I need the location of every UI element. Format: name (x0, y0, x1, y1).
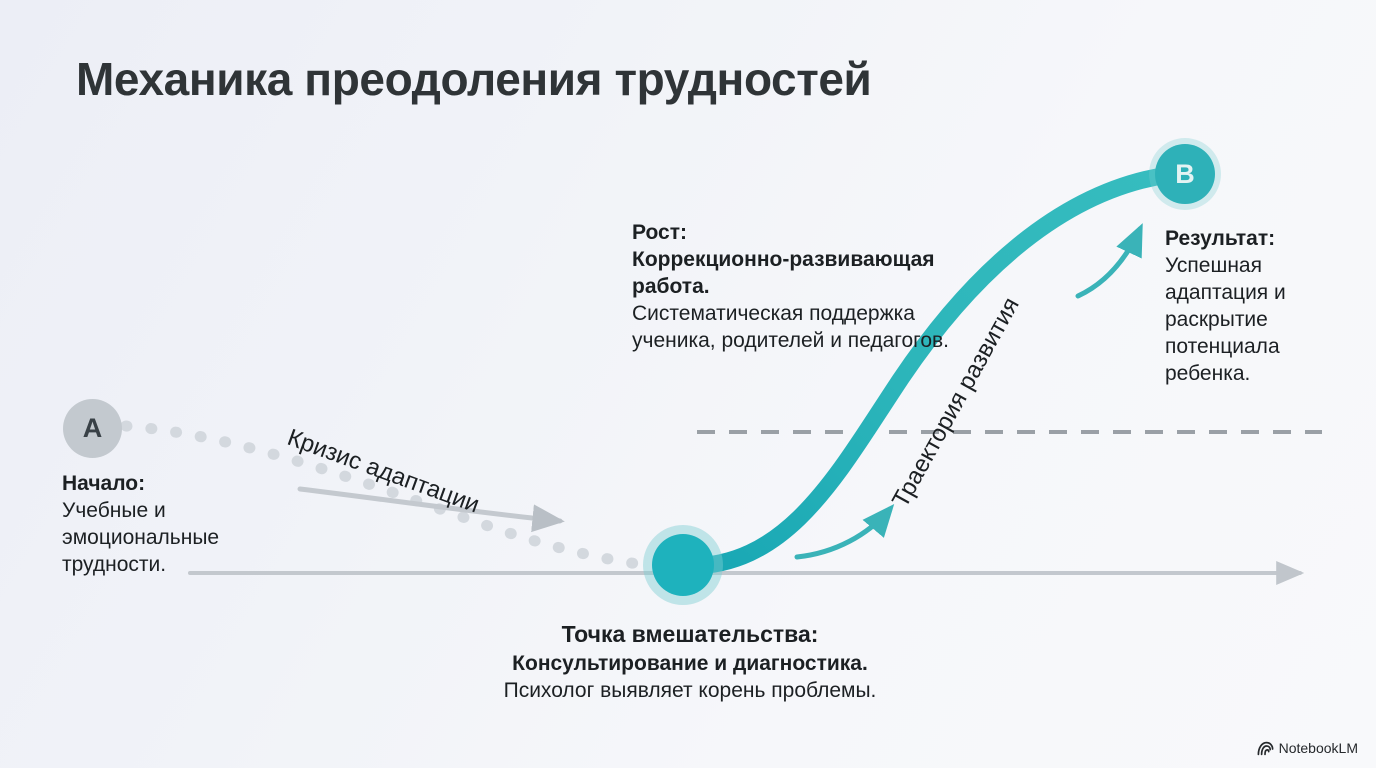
notebooklm-label: NotebookLM (1279, 740, 1358, 756)
node-start-a-letter: A (83, 413, 103, 444)
text-block-growth: Рост: Коррекционно-развивающая работа. С… (632, 219, 972, 354)
intervention-subtitle: Консультирование и диагностика. (420, 650, 960, 677)
growth-subheading: Коррекционно-развивающая работа. (632, 246, 972, 300)
start-body: Учебные и эмоциональные трудности. (62, 497, 292, 578)
infographic-canvas: Механика преодоления трудностей (0, 0, 1376, 768)
node-start-a[interactable]: A (63, 399, 122, 458)
start-heading: Начало: (62, 470, 292, 497)
intervention-title: Точка вмешательства: (420, 620, 960, 650)
text-block-intervention: Точка вмешательства: Консультирование и … (420, 620, 960, 704)
result-body: Успешная адаптация и раскрытие потенциал… (1165, 252, 1355, 387)
text-block-result: Результат: Успешная адаптация и раскрыти… (1165, 225, 1355, 387)
growth-heading: Рост: (632, 219, 972, 246)
node-end-b-letter: B (1175, 159, 1195, 190)
node-intervention-point[interactable] (652, 534, 714, 596)
intervention-body: Психолог выявляет корень проблемы. (420, 677, 960, 704)
node-end-b[interactable]: B (1155, 144, 1215, 204)
text-block-start: Начало: Учебные и эмоциональные трудност… (62, 470, 292, 578)
notebooklm-spiral-icon (1257, 741, 1274, 756)
result-heading: Результат: (1165, 225, 1355, 252)
notebooklm-watermark: NotebookLM (1257, 740, 1358, 756)
growth-accent-arrow-upper (1078, 229, 1140, 296)
growth-body: Систематическая поддержка ученика, родит… (632, 300, 972, 354)
